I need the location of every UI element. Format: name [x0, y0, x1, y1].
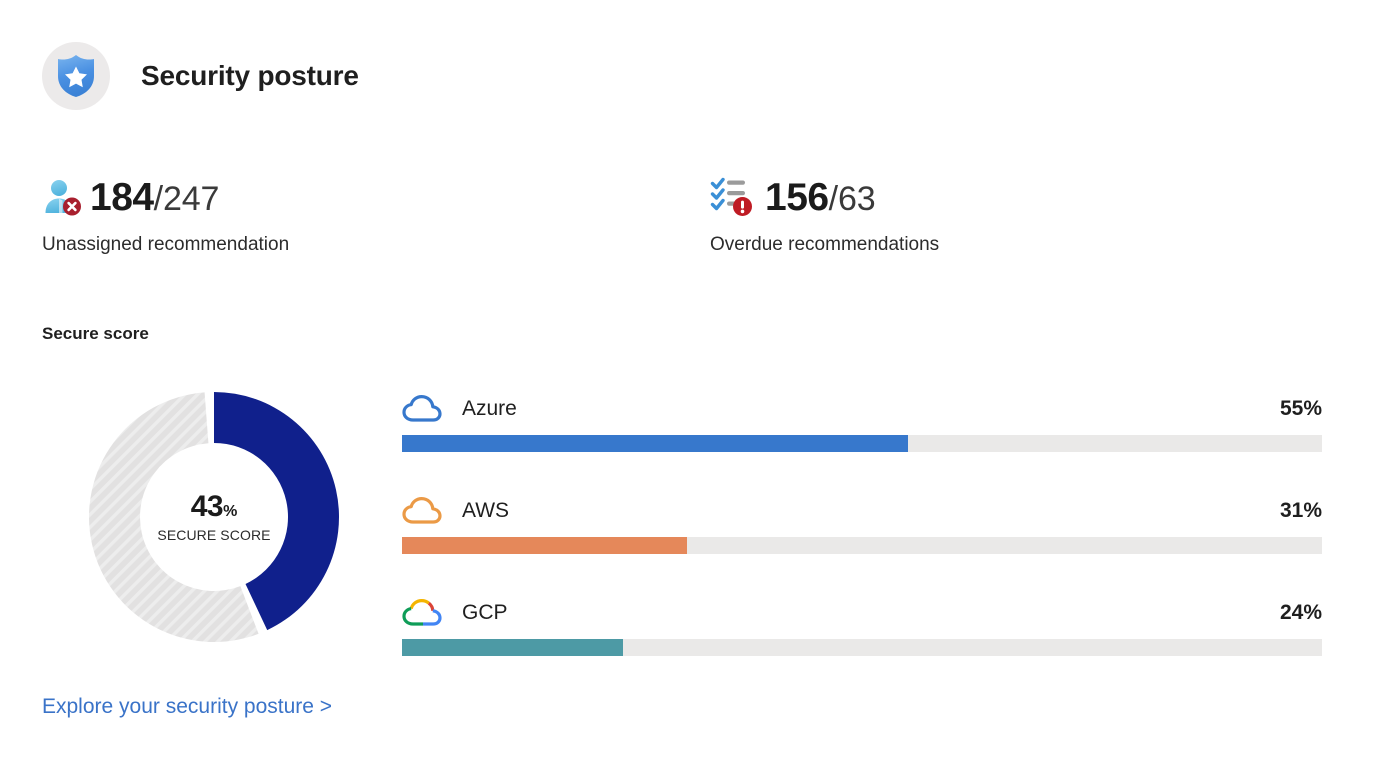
- bar-track: [402, 639, 1322, 656]
- metric-value: 184: [90, 176, 154, 219]
- checklist-alert-icon: [710, 176, 754, 218]
- bar-percent: 55%: [1280, 397, 1322, 421]
- metric-overdue-recommendations: 156/63 Overdue recommendations: [710, 174, 939, 256]
- explore-security-posture-link[interactable]: Explore your security posture >: [42, 695, 332, 719]
- metric-label: Unassigned recommendation: [42, 234, 289, 256]
- secure-score-donut-chart: 43% SECURE SCORE: [83, 392, 345, 642]
- gcp-cloud-icon: [402, 598, 444, 628]
- metric-value-row: 156/63: [710, 174, 939, 220]
- bar-label: GCP: [462, 601, 508, 625]
- bar-fill: [402, 435, 908, 452]
- aws-cloud-icon: [402, 496, 444, 526]
- bar-fill: [402, 639, 623, 656]
- secure-score-title: Secure score: [42, 324, 149, 344]
- bar-label: AWS: [462, 499, 509, 523]
- shield-star-icon: [42, 42, 110, 110]
- metric-unassigned-recommendation: 184/247 Unassigned recommendation: [42, 174, 289, 256]
- security-posture-card: Security posture 184/247 Unas: [0, 0, 1373, 767]
- bar-track: [402, 435, 1322, 452]
- metric-numbers: 184/247: [90, 178, 219, 217]
- bar-label: Azure: [462, 397, 517, 421]
- card-header: Security posture: [42, 42, 359, 110]
- cloud-scores-bar-chart: Azure 55% AWS 31%: [402, 392, 1322, 656]
- metric-total: 63: [838, 180, 875, 218]
- bar-track: [402, 537, 1322, 554]
- metric-separator: /: [154, 180, 163, 218]
- bar-header: Azure 55%: [402, 392, 1322, 426]
- metric-value-row: 184/247: [42, 174, 289, 220]
- bar-row-aws: AWS 31%: [402, 494, 1322, 554]
- metric-label: Overdue recommendations: [710, 234, 939, 256]
- bar-header: GCP 24%: [402, 596, 1322, 630]
- bar-header: AWS 31%: [402, 494, 1322, 528]
- metric-total: 247: [163, 180, 219, 218]
- bar-row-azure: Azure 55%: [402, 392, 1322, 452]
- metric-value: 156: [765, 176, 829, 219]
- user-blocked-icon: [42, 177, 82, 217]
- azure-cloud-icon: [402, 394, 444, 424]
- metric-separator: /: [829, 180, 838, 218]
- page-title: Security posture: [141, 60, 359, 92]
- metric-numbers: 156/63: [765, 178, 875, 217]
- bar-percent: 24%: [1280, 601, 1322, 625]
- bar-fill: [402, 537, 687, 554]
- bar-row-gcp: GCP 24%: [402, 596, 1322, 656]
- bar-percent: 31%: [1280, 499, 1322, 523]
